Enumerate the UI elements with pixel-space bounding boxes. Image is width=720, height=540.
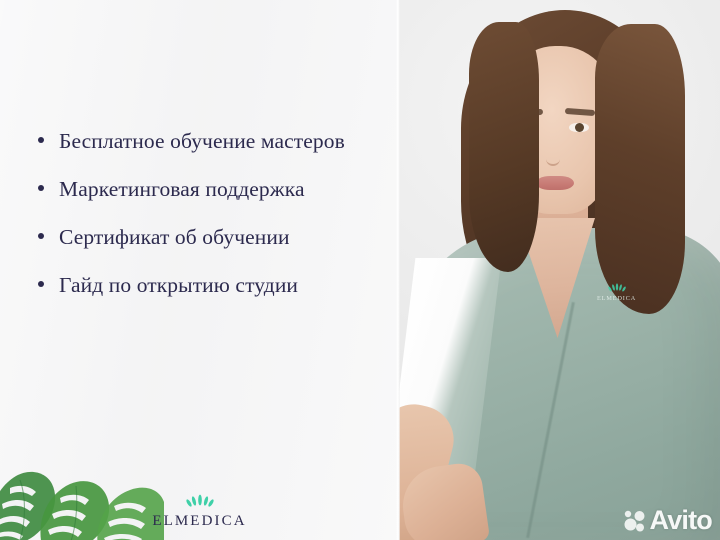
uniform-chest-logo: ELMEDICA bbox=[597, 282, 636, 302]
hair-front-right bbox=[595, 24, 685, 314]
uniform-chest-wordmark: ELMEDICA bbox=[597, 295, 636, 302]
model-photo: ELMEDICA bbox=[399, 0, 720, 540]
leaf-burst-icon bbox=[183, 493, 217, 511]
list-item: Бесплатное обучение мастеров bbox=[38, 128, 388, 154]
benefit-label: Гайд по открытию студии bbox=[59, 272, 298, 298]
benefit-label: Сертификат об обучении bbox=[59, 224, 290, 250]
list-item: Сертификат об обучении bbox=[38, 224, 388, 250]
hair-front-left bbox=[469, 22, 539, 272]
bullet-dot-icon bbox=[38, 281, 44, 287]
panel-divider bbox=[396, 0, 400, 540]
promo-slide: Бесплатное обучение мастеров Маркетингов… bbox=[0, 0, 720, 540]
list-item: Маркетинговая поддержка bbox=[38, 176, 388, 202]
nose bbox=[546, 148, 560, 166]
leaf-burst-icon bbox=[606, 282, 628, 294]
bullet-dot-icon bbox=[38, 137, 44, 143]
left-text-panel: Бесплатное обучение мастеров Маркетингов… bbox=[0, 0, 399, 540]
benefits-list: Бесплатное обучение мастеров Маркетингов… bbox=[38, 128, 388, 320]
brand-logo: ELMEDICA bbox=[0, 493, 399, 530]
bullet-dot-icon bbox=[38, 233, 44, 239]
eye-right bbox=[569, 123, 589, 132]
benefit-label: Маркетинговая поддержка bbox=[59, 176, 305, 202]
avito-watermark: Avito bbox=[624, 507, 713, 534]
lips bbox=[536, 176, 574, 190]
brand-wordmark: ELMEDICA bbox=[0, 513, 399, 530]
benefit-label: Бесплатное обучение мастеров bbox=[59, 128, 345, 154]
avito-wordmark: Avito bbox=[650, 507, 713, 534]
list-item: Гайд по открытию студии bbox=[38, 272, 388, 298]
avito-dots-icon bbox=[624, 510, 646, 532]
bullet-dot-icon bbox=[38, 185, 44, 191]
